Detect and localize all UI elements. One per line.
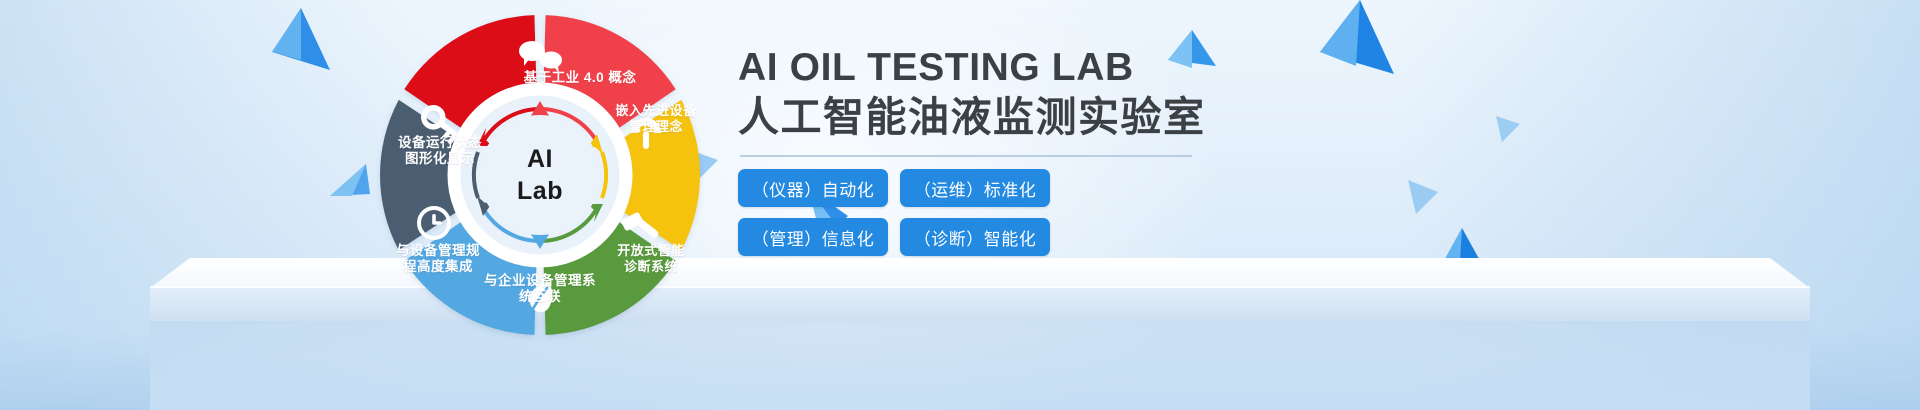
title-english: AI OIL TESTING LAB	[738, 48, 1438, 89]
decorative-triangle-icon	[330, 150, 370, 196]
feature-tag-diagnosis-intelligence[interactable]: （诊断）智能化	[900, 218, 1050, 256]
ai-lab-wheel-diagram: 基于工业 4.0 概念 嵌入先进设备 管理理念 开放式智能 诊断系统 与企业设备…	[370, 5, 710, 345]
feature-tag-management-informatization[interactable]: （管理）信息化	[738, 218, 888, 256]
feature-tag-instrument-automation[interactable]: （仪器）自动化	[738, 169, 888, 207]
hub-inner-circle	[480, 115, 600, 235]
title-chinese: 人工智能油液监测实验室	[738, 93, 1438, 141]
content-block: AI OIL TESTING LAB 人工智能油液监测实验室 （仪器）自动化 （…	[738, 48, 1438, 256]
decorative-triangle-icon	[1496, 116, 1520, 142]
feature-tag-ops-standardization[interactable]: （运维）标准化	[900, 169, 1050, 207]
title-divider	[740, 155, 1192, 157]
decorative-triangle-icon	[272, 8, 330, 78]
feature-tag-list: （仪器）自动化 （运维）标准化 （管理）信息化 （诊断）智能化	[738, 169, 1058, 256]
banner-root: 基于工业 4.0 概念 嵌入先进设备 管理理念 开放式智能 诊断系统 与企业设备…	[0, 0, 1920, 410]
